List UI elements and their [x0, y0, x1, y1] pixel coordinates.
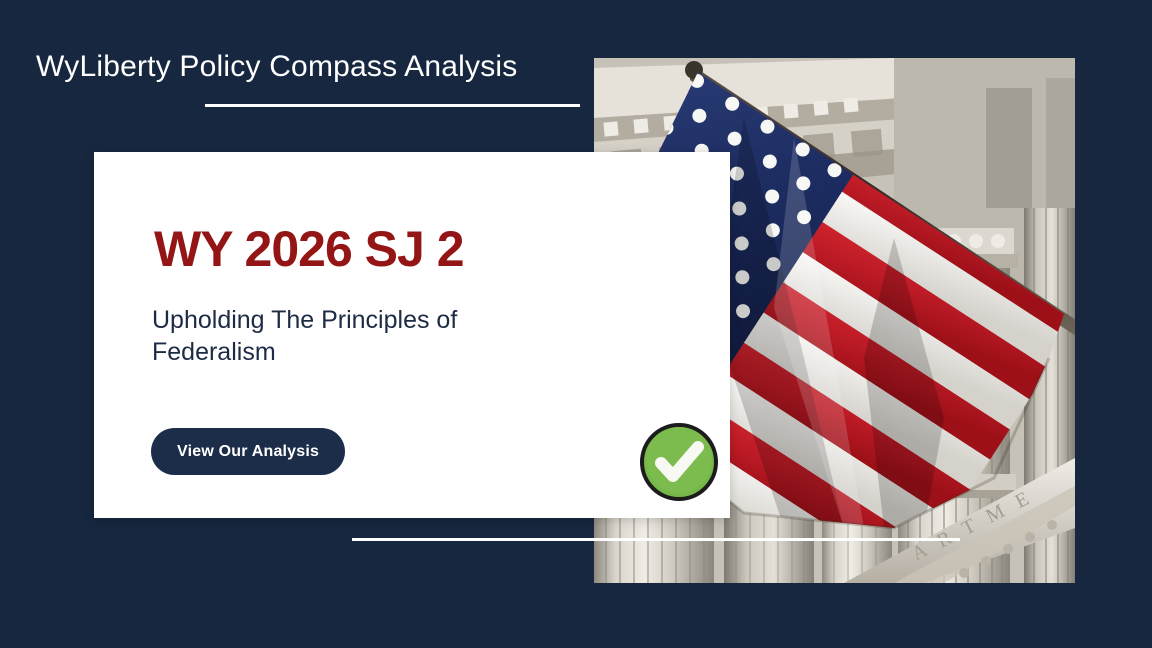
header-divider-rule — [205, 104, 580, 107]
status-badge — [639, 422, 719, 502]
bill-id-heading: WY 2026 SJ 2 — [154, 220, 464, 278]
bill-subtitle: Upholding The Principles of Federalism — [152, 304, 552, 368]
bill-summary-card: WY 2026 SJ 2 Upholding The Principles of… — [94, 152, 730, 518]
view-our-analysis-button[interactable]: View Our Analysis — [151, 428, 345, 475]
page-title: WyLiberty Policy Compass Analysis — [36, 50, 518, 84]
slide-canvas: WyLiberty Policy Compass Analysis — [0, 0, 1152, 648]
bottom-divider-rule — [352, 538, 960, 541]
check-circle-icon — [639, 422, 719, 502]
